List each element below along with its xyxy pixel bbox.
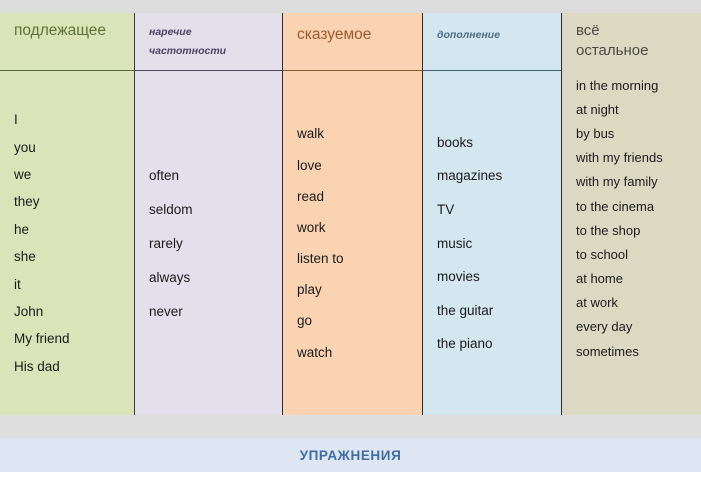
list-item[interactable]: music (437, 226, 551, 260)
list-item[interactable]: at night (576, 97, 691, 121)
list-item[interactable]: never (149, 294, 272, 328)
sentence-structure-table: подлежащее I you we they he she it John … (0, 13, 701, 415)
list-item[interactable]: to school (576, 242, 691, 266)
column-predicate: сказуемое walk love read work listen to … (282, 13, 422, 415)
list-item[interactable]: My friend (14, 325, 124, 352)
list-item[interactable]: he (14, 216, 124, 243)
column-everything-else: всё остальное in the morning at night by… (561, 13, 701, 415)
column-header-adverb-line1: наречие (149, 21, 272, 40)
list-item[interactable]: with my family (576, 170, 691, 194)
column-object: дополнение books magazines TV music movi… (422, 13, 561, 415)
column-header-everything-else-line2: остальное (576, 41, 691, 61)
list-item[interactable]: by bus (576, 121, 691, 145)
list-item[interactable]: read (297, 181, 412, 212)
list-item[interactable]: watch (297, 337, 412, 368)
list-item[interactable]: John (14, 298, 124, 325)
sentence-builder-page: подлежащее I you we they he she it John … (0, 0, 701, 497)
top-gray-strip (0, 0, 701, 13)
list-item[interactable]: they (14, 188, 124, 215)
list-item[interactable]: the piano (437, 327, 551, 361)
exercises-label: УПРАЖНЕНИЯ (300, 448, 402, 463)
list-item[interactable]: play (297, 274, 412, 305)
column-header-predicate: сказуемое (283, 13, 422, 71)
list-item[interactable]: movies (437, 260, 551, 294)
column-header-everything-else: всё остальное (562, 13, 701, 71)
list-item[interactable]: every day (576, 315, 691, 339)
list-item[interactable]: sometimes (576, 339, 691, 363)
list-item[interactable]: magazines (437, 159, 551, 193)
column-subject: подлежащее I you we they he she it John … (0, 13, 134, 415)
list-item[interactable]: at home (576, 267, 691, 291)
list-item[interactable]: to the cinema (576, 194, 691, 218)
list-item[interactable]: books (437, 125, 551, 159)
footer-white-area (0, 472, 701, 497)
list-item[interactable]: in the morning (576, 73, 691, 97)
column-header-everything-else-line1: всё (576, 21, 691, 41)
column-header-adverb-line2: частотности (149, 40, 272, 59)
column-header-adverb-of-frequency: наречие частотности (135, 13, 282, 71)
column-header-predicate-label: сказуемое (297, 21, 412, 45)
column-body-subject: I you we they he she it John My friend H… (0, 71, 134, 415)
column-body-everything-else: in the morning at night by bus with my f… (562, 71, 701, 415)
list-item[interactable]: with my friends (576, 146, 691, 170)
list-item[interactable]: often (149, 158, 272, 192)
list-item[interactable]: rarely (149, 226, 272, 260)
column-header-object: дополнение (423, 13, 561, 71)
list-item[interactable]: the guitar (437, 293, 551, 327)
list-item[interactable]: it (14, 270, 124, 297)
list-item[interactable]: always (149, 260, 272, 294)
mid-gray-strip (0, 415, 701, 438)
column-header-subject-label: подлежащее (14, 21, 124, 41)
column-body-object: books magazines TV music movies the guit… (423, 71, 561, 415)
list-item[interactable]: we (14, 161, 124, 188)
column-body-adverb-of-frequency: often seldom rarely always never (135, 71, 282, 415)
list-item[interactable]: at work (576, 291, 691, 315)
list-item[interactable]: I (14, 106, 124, 133)
list-item[interactable]: she (14, 243, 124, 270)
column-header-subject: подлежащее (0, 13, 134, 71)
list-item[interactable]: TV (437, 193, 551, 227)
column-adverb-of-frequency: наречие частотности often seldom rarely … (134, 13, 282, 415)
list-item[interactable]: seldom (149, 192, 272, 226)
list-item[interactable]: listen to (297, 243, 412, 274)
exercises-banner[interactable]: УПРАЖНЕНИЯ (0, 438, 701, 472)
column-header-object-label: дополнение (437, 21, 551, 43)
list-item[interactable]: you (14, 134, 124, 161)
list-item[interactable]: love (297, 149, 412, 180)
list-item[interactable]: to the shop (576, 218, 691, 242)
column-body-predicate: walk love read work listen to play go wa… (283, 71, 422, 415)
list-item[interactable]: go (297, 305, 412, 336)
list-item[interactable]: walk (297, 118, 412, 149)
list-item[interactable]: His dad (14, 353, 124, 380)
list-item[interactable]: work (297, 212, 412, 243)
